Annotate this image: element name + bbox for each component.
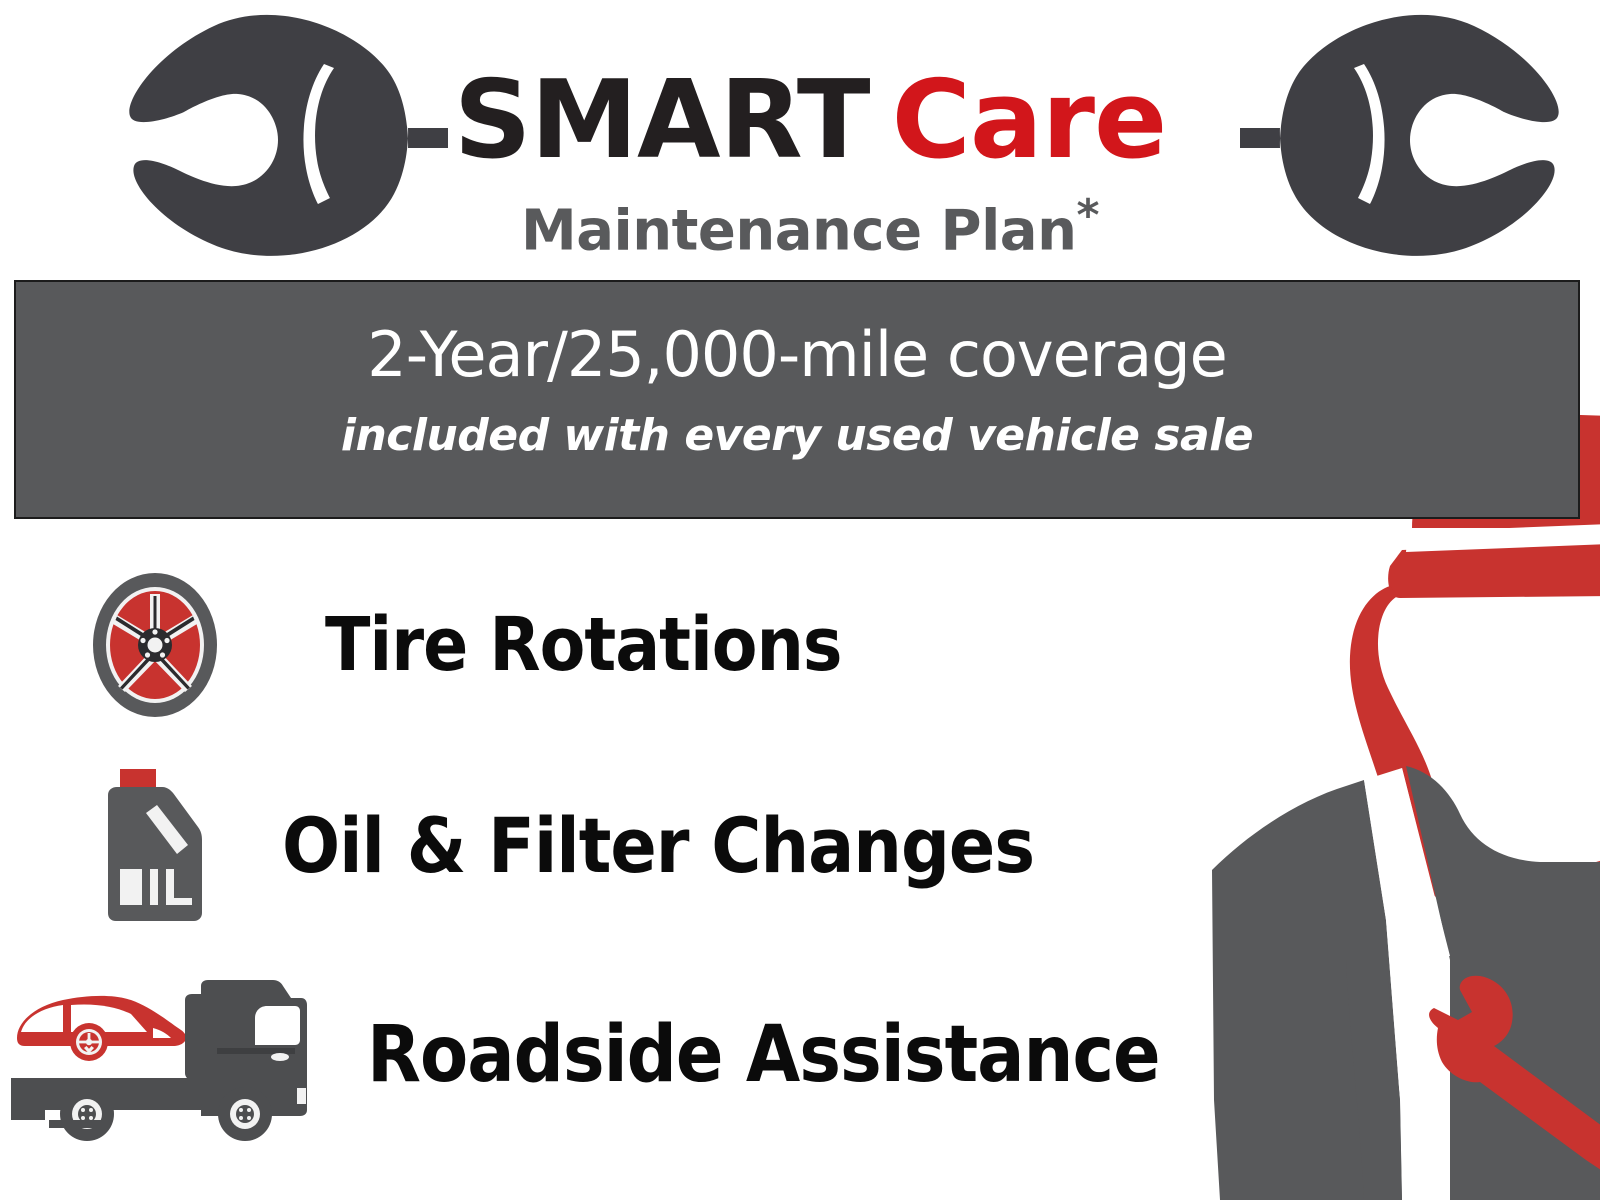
- mechanic-with-wrench-illustration: [1150, 400, 1600, 1200]
- feature-item-tire-rotations: Tire Rotations: [80, 570, 842, 720]
- logo-subtitle-wrap: Maintenance Plan*: [400, 190, 1220, 264]
- feature-label: Roadside Assistance: [367, 1010, 1160, 1100]
- feature-item-roadside-assistance: Roadside Assistance: [5, 960, 1160, 1150]
- smart-care-maintenance-plan-graphic: SMARTCare Maintenance Plan*: [0, 0, 1600, 1200]
- brand-secondary: Care: [892, 58, 1167, 183]
- coverage-banner: 2-Year/25,000-mile coverage included wit…: [14, 280, 1580, 519]
- wrench-icon: [118, 8, 448, 260]
- logo-subtitle: Maintenance Plan: [521, 199, 1076, 264]
- wrench-icon: [1240, 8, 1570, 260]
- feature-item-oil-filter-changes: Oil & Filter Changes: [100, 765, 1034, 925]
- banner-headline: 2-Year/25,000-mile coverage: [16, 318, 1578, 391]
- oil-bottle-icon: [100, 765, 210, 925]
- features-list: Tire Rotations Oil & Filter Changes: [0, 540, 1200, 1180]
- banner-subhead: included with every used vehicle sale: [16, 410, 1578, 461]
- tire-wheel-icon: [80, 570, 230, 720]
- logo-asterisk: *: [1076, 190, 1099, 241]
- brand-wordmark: SMARTCare: [400, 62, 1220, 192]
- logo-area: SMARTCare Maintenance Plan*: [0, 0, 1600, 272]
- feature-label: Tire Rotations: [325, 602, 842, 688]
- tow-truck-icon: [5, 960, 335, 1150]
- feature-label: Oil & Filter Changes: [282, 801, 1034, 890]
- brand-primary: SMART: [454, 58, 870, 183]
